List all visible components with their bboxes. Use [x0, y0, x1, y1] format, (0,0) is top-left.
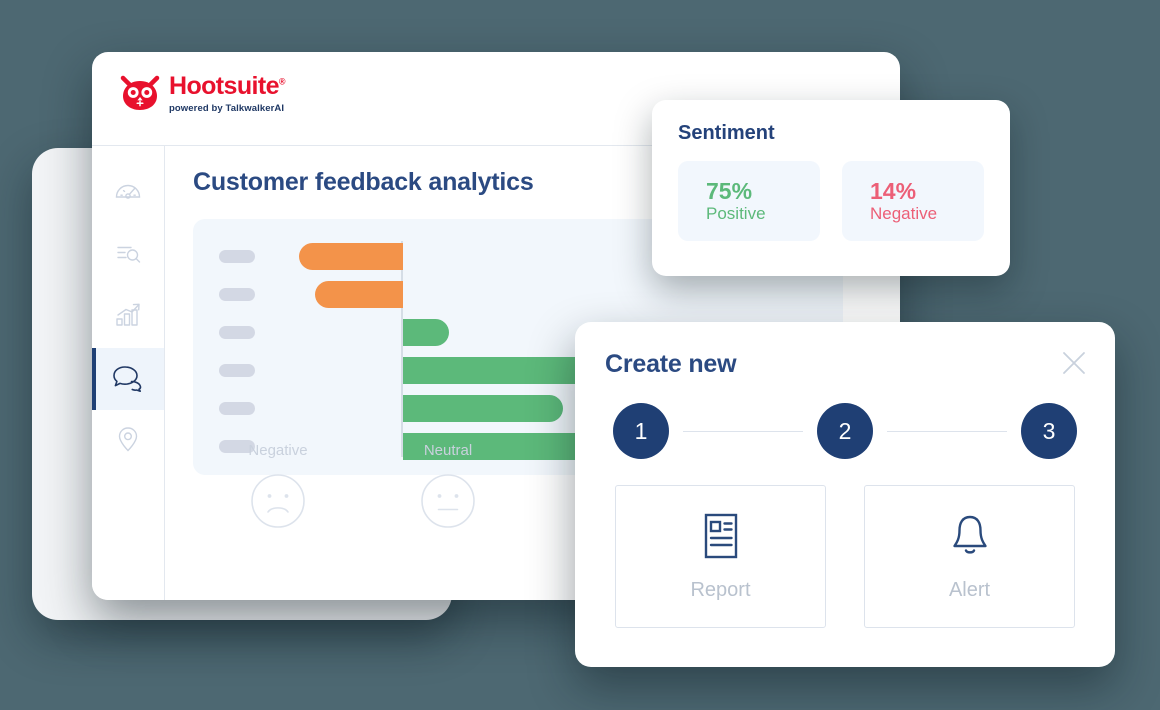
sentiment-tile-negative[interactable]: 14% Negative	[842, 161, 984, 241]
step-1[interactable]: 1	[613, 403, 669, 459]
sidebar-item-search[interactable]	[92, 224, 164, 286]
sidebar-item-locations[interactable]	[92, 410, 164, 472]
document-report-icon	[699, 512, 743, 565]
registered-trademark-mark: ®	[279, 77, 285, 87]
close-icon[interactable]	[1059, 348, 1089, 378]
bar-positive-3	[403, 319, 449, 346]
step-3[interactable]: 3	[1021, 403, 1077, 459]
sentiment-negative-value: 14%	[870, 178, 984, 204]
sentiment-tile-positive[interactable]: 75% Positive	[678, 161, 820, 241]
face-label-negative: Negative	[248, 442, 307, 459]
row-label-placeholder	[219, 326, 255, 339]
bar-chart-trend-icon	[113, 300, 143, 335]
create-type-options: Report Alert	[605, 485, 1085, 628]
row-label-placeholder	[219, 288, 255, 301]
sidebar-item-dashboard[interactable]	[92, 162, 164, 224]
sentiment-negative-label: Negative	[870, 204, 984, 224]
option-report-label: Report	[690, 579, 750, 602]
bar-negative-2	[315, 281, 403, 308]
chart-row	[193, 277, 843, 311]
row-label-placeholder	[219, 250, 255, 263]
hootsuite-owl-icon	[120, 75, 160, 116]
option-alert-label: Alert	[949, 579, 990, 602]
face-cell-neutral: Neutral	[363, 442, 533, 534]
brand-logo[interactable]: Hootsuite® powered by TalkwalkerAI	[120, 74, 285, 116]
face-label-neutral: Neutral	[424, 442, 472, 459]
step-connector-1	[683, 431, 803, 432]
modal-title: Create new	[605, 350, 1085, 379]
step-2[interactable]: 2	[817, 403, 873, 459]
row-label-placeholder	[219, 364, 255, 377]
bar-negative-1	[299, 243, 403, 270]
sentiment-positive-value: 75%	[706, 178, 820, 204]
bar-positive-5	[403, 395, 563, 422]
brand-tagline: powered by TalkwalkerAI	[169, 103, 285, 114]
sidebar-nav	[92, 146, 165, 600]
brand-wordmark: Hootsuite®	[169, 74, 285, 99]
location-pin-icon	[113, 424, 143, 459]
bell-icon	[947, 512, 993, 565]
sentiment-positive-label: Positive	[706, 204, 820, 224]
create-new-modal: Create new 1 2 3 Report	[575, 322, 1115, 667]
step-connector-2	[887, 431, 1007, 432]
wizard-stepper: 1 2 3	[605, 403, 1085, 459]
sidebar-item-conversations[interactable]	[92, 348, 164, 410]
search-list-icon	[113, 238, 143, 273]
option-report[interactable]: Report	[615, 485, 826, 628]
sad-face-icon	[250, 473, 306, 534]
gauge-icon	[113, 176, 143, 211]
row-label-placeholder	[219, 402, 255, 415]
face-cell-negative: Negative	[193, 442, 363, 534]
sentiment-card: Sentiment 75% Positive 14% Negative	[652, 100, 1010, 276]
sidebar-item-analytics[interactable]	[92, 286, 164, 348]
neutral-face-icon	[420, 473, 476, 534]
option-alert[interactable]: Alert	[864, 485, 1075, 628]
chat-bubbles-icon	[112, 362, 144, 397]
brand-wordmark-text: Hootsuite	[169, 72, 279, 100]
sentiment-card-title: Sentiment	[678, 122, 984, 145]
sentiment-tiles: 75% Positive 14% Negative	[678, 161, 984, 241]
